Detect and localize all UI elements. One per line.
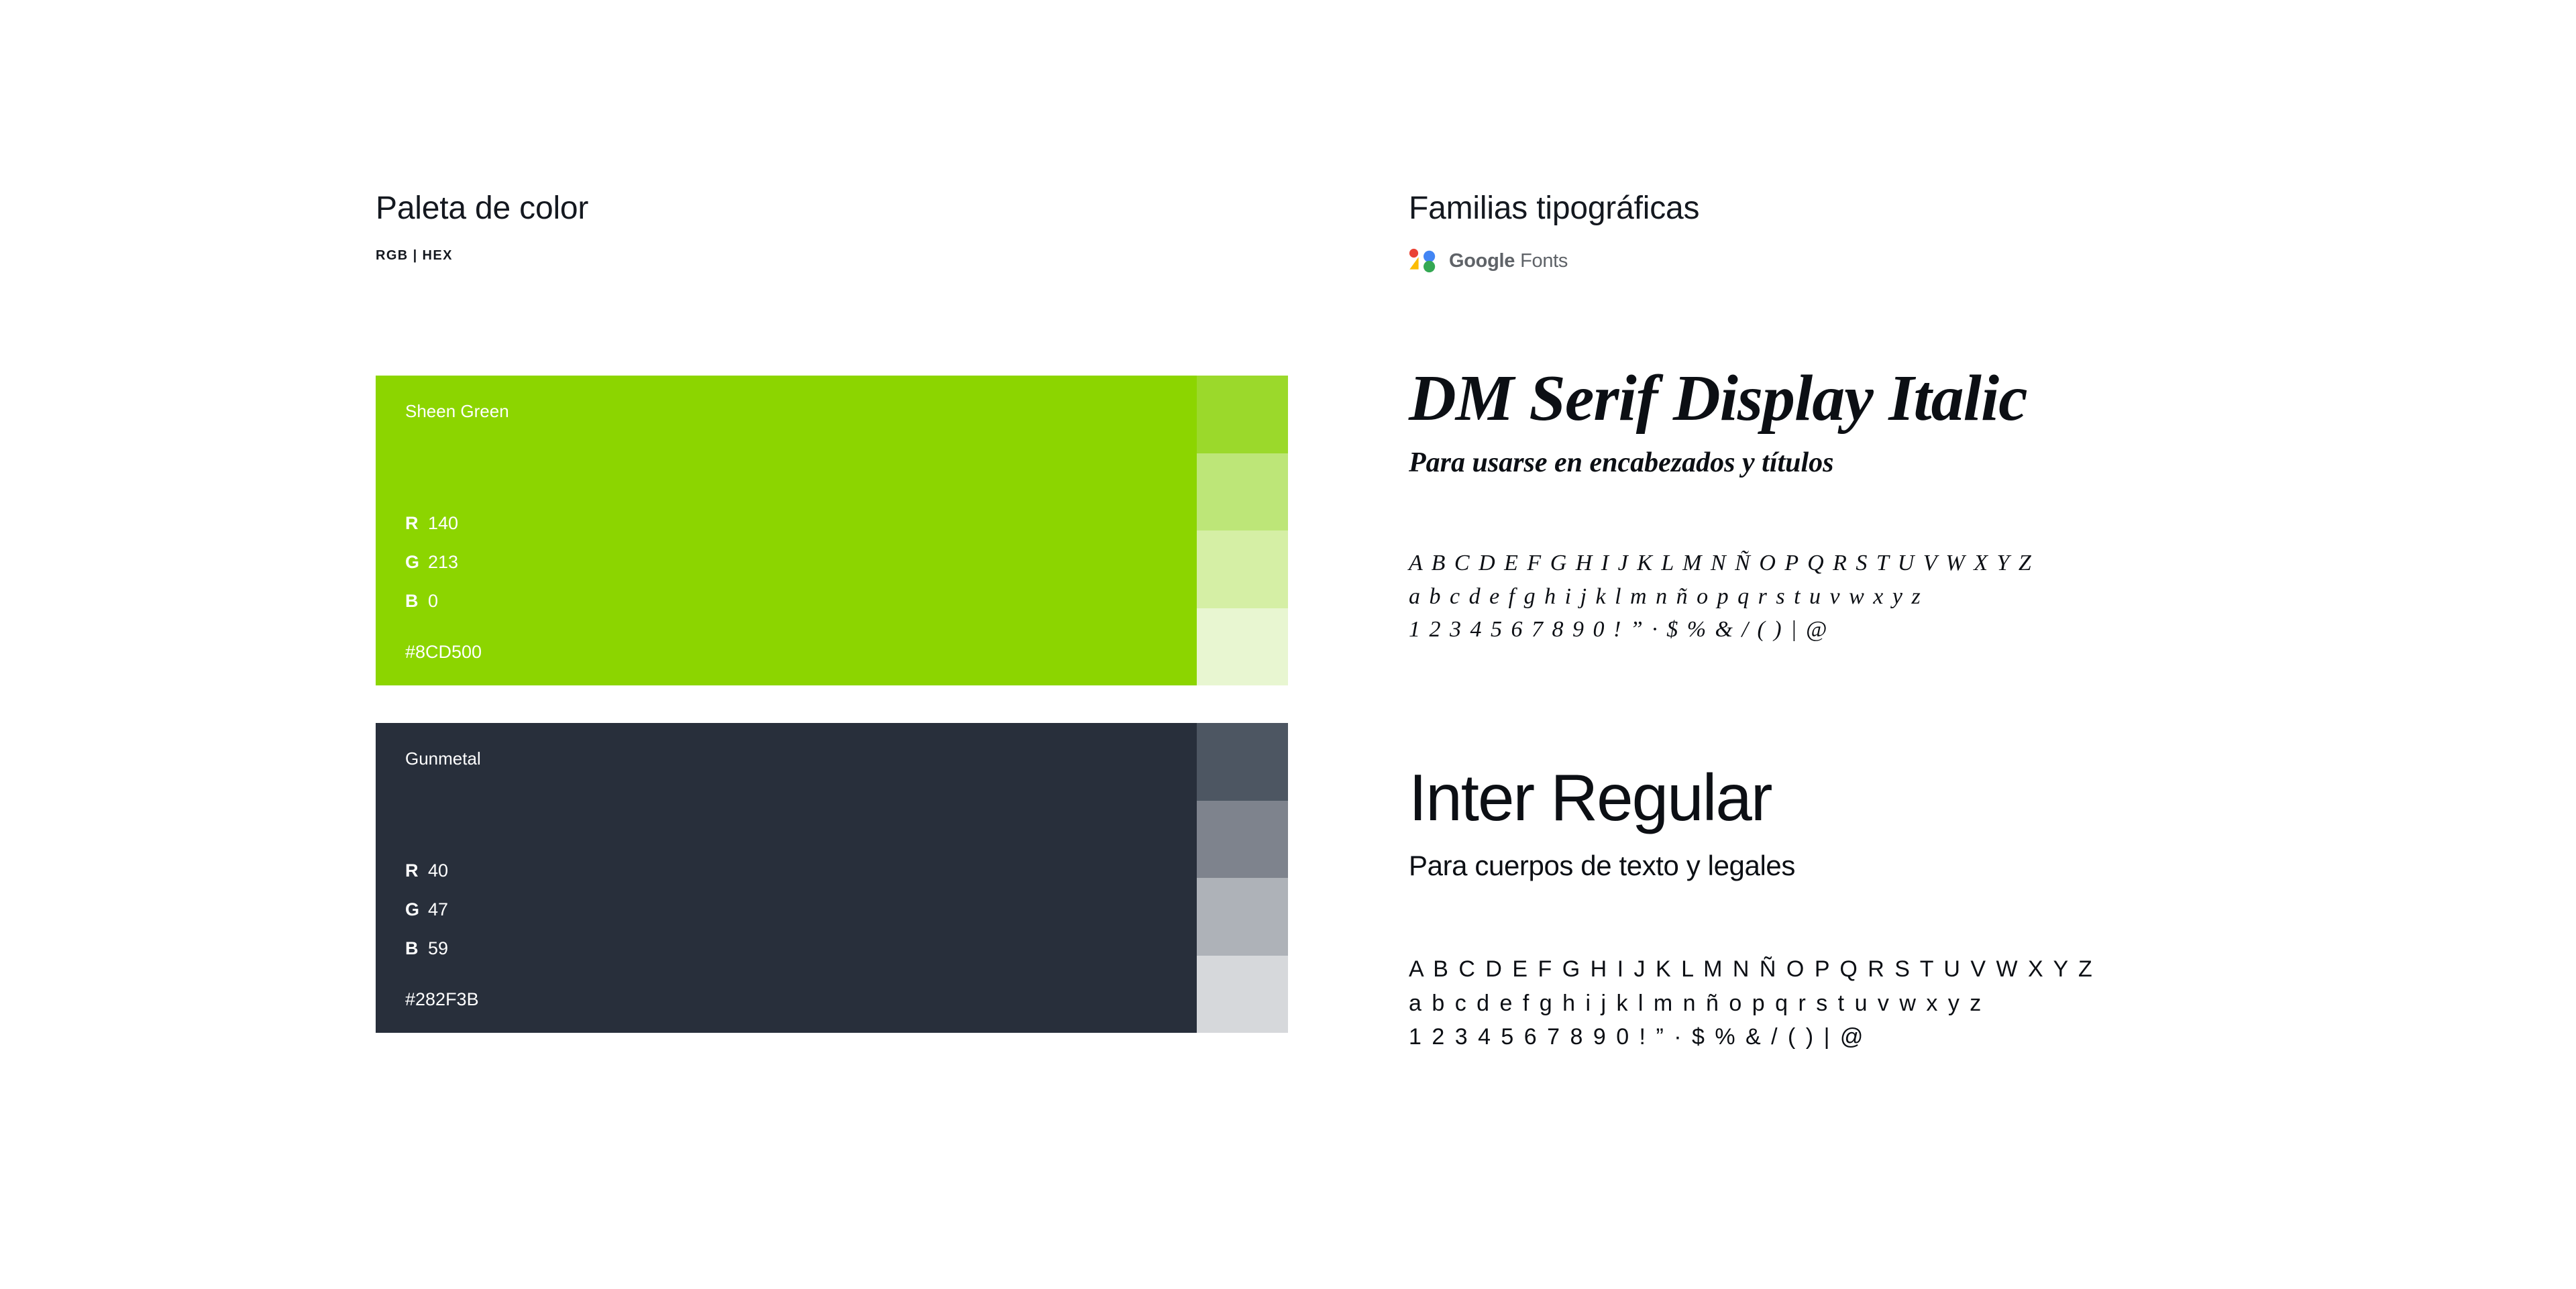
font-family-block-serif: DM Serif Display Italic Para usarse en e… — [1409, 366, 2482, 646]
rgb-row-blue: B 59 — [405, 938, 448, 977]
tint-step — [1197, 723, 1288, 801]
rgb-value-b: 0 — [428, 591, 438, 612]
swatch-hex-label: #282F3B — [405, 989, 479, 1010]
tint-step — [1197, 956, 1288, 1033]
google-fonts-source: Google Fonts — [1409, 247, 2415, 276]
google-word: Google — [1449, 250, 1515, 272]
tint-step — [1197, 801, 1288, 879]
specimen-symbols: 1 2 3 4 5 6 7 8 9 0 ! ” · $ % & / ( ) | … — [1409, 1020, 2482, 1054]
typography-title: Familias tipográficas — [1409, 191, 2415, 227]
palette-title: Paleta de color — [376, 191, 1355, 227]
color-swatch-list: Sheen Green R 140 G 213 B 0 #8CD500 — [376, 376, 1288, 1033]
tint-step — [1197, 530, 1288, 608]
rgb-key-b: B — [405, 591, 428, 612]
typography-header: Familias tipográficas Google Fonts — [1409, 191, 2415, 276]
swatch-color-name: Sheen Green — [405, 401, 1197, 422]
fonts-word: Fonts — [1520, 250, 1568, 272]
font-family-usage: Para cuerpos de texto y legales — [1409, 849, 2482, 883]
rgb-key-g: G — [405, 899, 428, 920]
tint-step — [1197, 453, 1288, 531]
rgb-key-b: B — [405, 938, 428, 959]
color-swatch-card: Gunmetal R 40 G 47 B 59 #282F3B — [376, 723, 1288, 1033]
specimen-uppercase: A B C D E F G H I J K L M N Ñ O P Q R S … — [1409, 547, 2482, 579]
font-specimen: A B C D E F G H I J K L M N Ñ O P Q R S … — [1409, 952, 2482, 1054]
tint-step — [1197, 608, 1288, 686]
font-family-name: DM Serif Display Italic — [1409, 366, 2482, 431]
rgb-row-green: G 213 — [405, 552, 458, 591]
rgb-values: R 40 G 47 B 59 — [405, 860, 448, 977]
rgb-values: R 140 G 213 B 0 — [405, 513, 458, 630]
specimen-lowercase: a b c d e f g h i j k l m n ñ o p q r s … — [1409, 580, 2482, 613]
specimen-lowercase: a b c d e f g h i j k l m n ñ o p q r s … — [1409, 987, 2482, 1020]
style-guide-page: Paleta de color RGB | HEX Sheen Green R … — [0, 0, 2576, 1289]
rgb-key-r: R — [405, 513, 428, 534]
rgb-key-r: R — [405, 860, 428, 881]
rgb-row-blue: B 0 — [405, 591, 458, 630]
rgb-key-g: G — [405, 552, 428, 573]
google-fonts-logo-icon — [1409, 248, 1440, 275]
rgb-row-red: R 140 — [405, 513, 458, 552]
rgb-row-green: G 47 — [405, 899, 448, 938]
swatch-tint-column — [1197, 723, 1288, 1033]
swatch-hex-label: #8CD500 — [405, 642, 482, 663]
tint-step — [1197, 878, 1288, 956]
rgb-value-r: 40 — [428, 860, 448, 881]
rgb-value-b: 59 — [428, 938, 448, 959]
tint-step — [1197, 376, 1288, 453]
palette-header: Paleta de color RGB | HEX — [376, 191, 1355, 264]
rgb-row-red: R 40 — [405, 860, 448, 899]
rgb-value-r: 140 — [428, 513, 458, 534]
font-family-usage: Para usarse en encabezados y títulos — [1409, 446, 2482, 480]
rgb-value-g: 47 — [428, 899, 448, 920]
specimen-symbols: 1 2 3 4 5 6 7 8 9 0 ! ” · $ % & / ( ) | … — [1409, 613, 2482, 646]
google-fonts-wordmark: Google Fonts — [1449, 250, 1568, 272]
font-specimen: A B C D E F G H I J K L M N Ñ O P Q R S … — [1409, 547, 2482, 646]
palette-subtitle: RGB | HEX — [376, 248, 1355, 264]
swatch-tint-column — [1197, 376, 1288, 685]
font-family-block-sans: Inter Regular Para cuerpos de texto y le… — [1409, 765, 2482, 1054]
swatch-body: Sheen Green R 140 G 213 B 0 #8CD500 — [376, 376, 1197, 685]
specimen-uppercase: A B C D E F G H I J K L M N Ñ O P Q R S … — [1409, 952, 2482, 986]
swatch-color-name: Gunmetal — [405, 748, 1197, 769]
color-swatch-card: Sheen Green R 140 G 213 B 0 #8CD500 — [376, 376, 1288, 685]
rgb-value-g: 213 — [428, 552, 458, 573]
font-family-name: Inter Regular — [1409, 765, 2482, 830]
swatch-body: Gunmetal R 40 G 47 B 59 #282F3B — [376, 723, 1197, 1033]
